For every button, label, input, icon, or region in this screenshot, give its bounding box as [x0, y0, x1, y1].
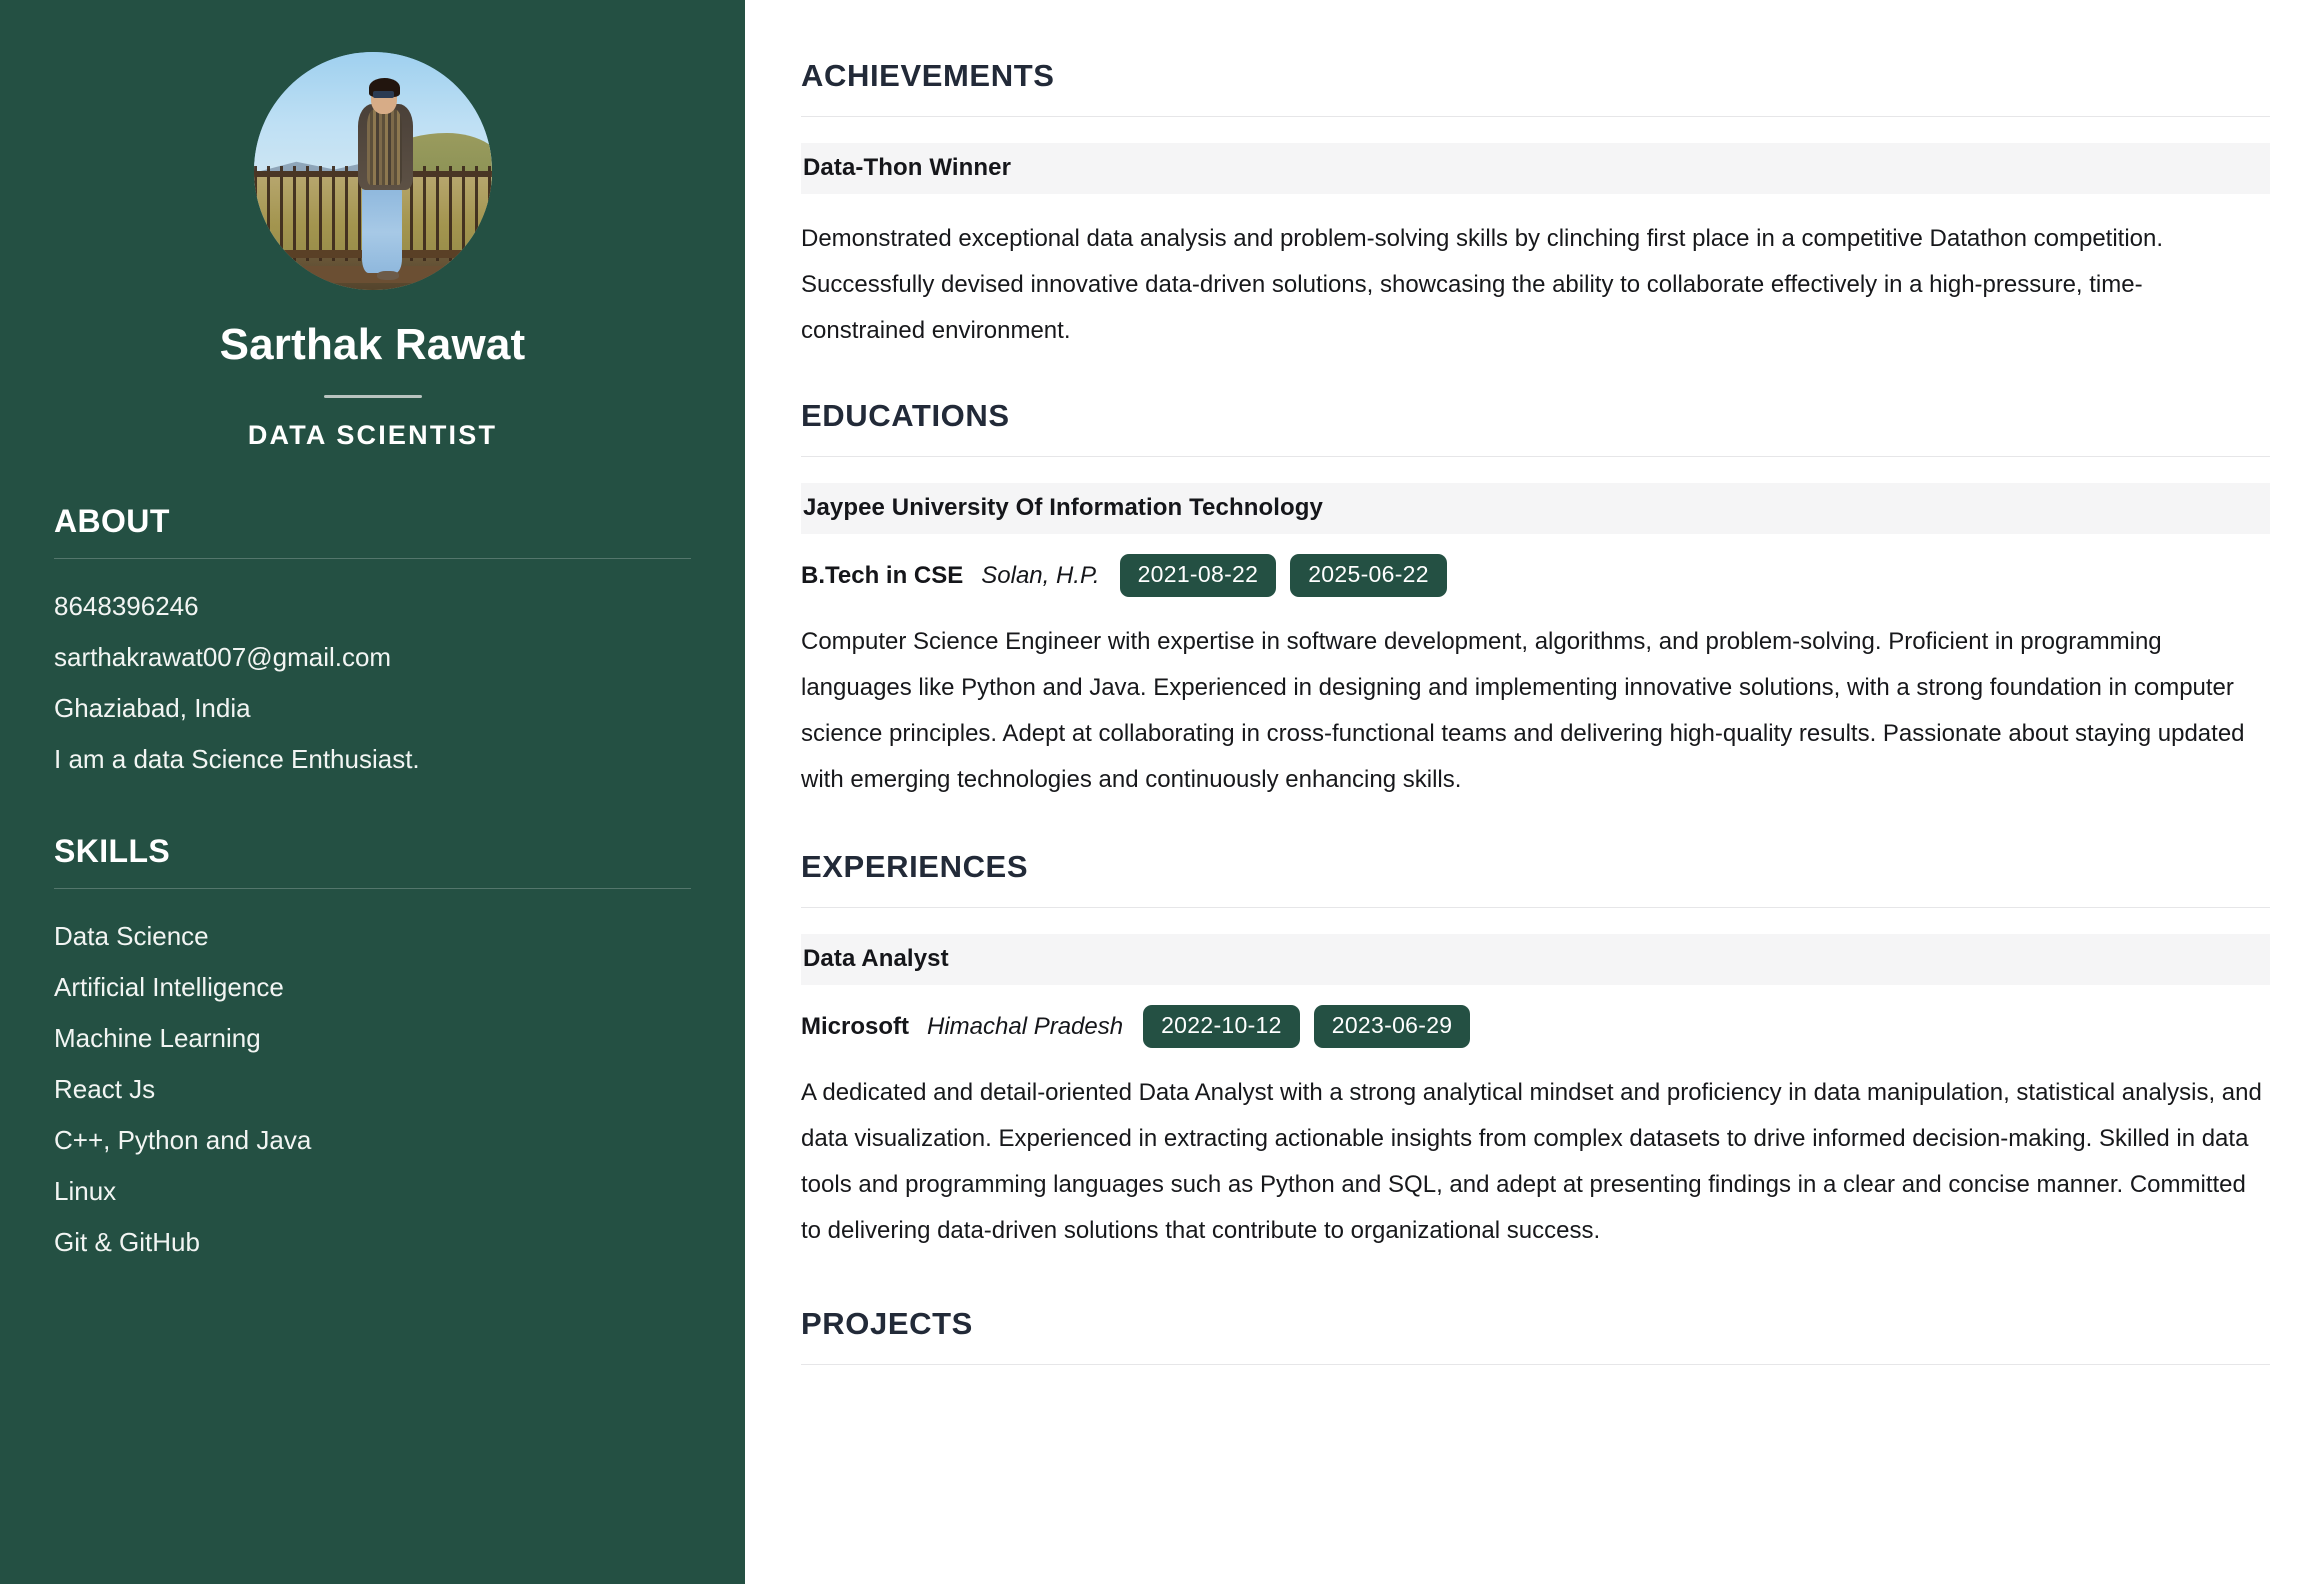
section-projects: PROJECTS: [801, 1306, 2270, 1365]
skill-item: C++, Python and Java: [54, 1115, 691, 1166]
photo-person-sunglasses: [373, 91, 394, 98]
section-achievements: ACHIEVEMENTS Data-Thon Winner Demonstrat…: [801, 58, 2270, 354]
experience-meta-row: Microsoft Himachal Pradesh 2022-10-12 20…: [801, 1005, 2270, 1048]
achievement-entry: Data-Thon Winner Demonstrated exceptiona…: [801, 143, 2270, 354]
education-start-date-badge: 2021-08-22: [1120, 554, 1277, 597]
experience-role: Data Analyst: [801, 934, 2270, 985]
main-content: ACHIEVEMENTS Data-Thon Winner Demonstrat…: [745, 0, 2320, 1584]
candidate-role: DATA SCIENTIST: [54, 420, 691, 451]
about-phone: 8648396246: [54, 581, 691, 632]
experiences-heading: EXPERIENCES: [801, 849, 2270, 908]
sidebar-section-about: ABOUT 8648396246 sarthakrawat007@gmail.c…: [54, 503, 691, 785]
photo-person-sweater: [367, 109, 403, 185]
resume-page: Sarthak Rawat DATA SCIENTIST ABOUT 86483…: [0, 0, 2320, 1584]
experience-description: A dedicated and detail-oriented Data Ana…: [801, 1070, 2270, 1254]
experience-location: Himachal Pradesh: [927, 1013, 1123, 1041]
education-institution: Jaypee University Of Information Technol…: [801, 483, 2270, 534]
photo-person-shoe: [377, 271, 398, 281]
about-address: Ghaziabad, India: [54, 683, 691, 734]
photo-person-legs: [362, 183, 402, 273]
experience-end-date-badge: 2023-06-29: [1314, 1005, 1471, 1048]
sidebar: Sarthak Rawat DATA SCIENTIST ABOUT 86483…: [0, 0, 745, 1584]
skills-list: Data Science Artificial Intelligence Mac…: [54, 911, 691, 1268]
achievement-title: Data-Thon Winner: [801, 143, 2270, 194]
education-meta-row: B.Tech in CSE Solan, H.P. 2021-08-22 202…: [801, 554, 2270, 597]
education-entry: Jaypee University Of Information Technol…: [801, 483, 2270, 803]
name-divider: [324, 395, 422, 398]
education-description: Computer Science Engineer with expertise…: [801, 619, 2270, 803]
projects-heading: PROJECTS: [801, 1306, 2270, 1365]
skill-item: React Js: [54, 1064, 691, 1115]
about-list: 8648396246 sarthakrawat007@gmail.com Gha…: [54, 581, 691, 785]
section-experiences: EXPERIENCES Data Analyst Microsoft Himac…: [801, 849, 2270, 1254]
achievement-description: Demonstrated exceptional data analysis a…: [801, 216, 2256, 354]
experience-start-date-badge: 2022-10-12: [1143, 1005, 1300, 1048]
skill-item: Git & GitHub: [54, 1217, 691, 1268]
avatar: [254, 52, 492, 290]
experience-company: Microsoft: [801, 1013, 909, 1041]
sidebar-section-skills: SKILLS Data Science Artificial Intellige…: [54, 833, 691, 1268]
skill-item: Data Science: [54, 911, 691, 962]
skill-item: Artificial Intelligence: [54, 962, 691, 1013]
educations-heading: EDUCATIONS: [801, 398, 2270, 457]
skill-item: Linux: [54, 1166, 691, 1217]
education-degree: B.Tech in CSE: [801, 562, 963, 590]
skill-item: Machine Learning: [54, 1013, 691, 1064]
candidate-name: Sarthak Rawat: [54, 320, 691, 370]
education-end-date-badge: 2025-06-22: [1290, 554, 1447, 597]
skills-heading: SKILLS: [54, 833, 691, 889]
avatar-container: [54, 52, 691, 290]
achievements-heading: ACHIEVEMENTS: [801, 58, 2270, 117]
experience-entry: Data Analyst Microsoft Himachal Pradesh …: [801, 934, 2270, 1254]
about-heading: ABOUT: [54, 503, 691, 559]
about-summary: I am a data Science Enthusiast.: [54, 734, 691, 785]
education-location: Solan, H.P.: [981, 562, 1099, 590]
about-email: sarthakrawat007@gmail.com: [54, 632, 691, 683]
section-educations: EDUCATIONS Jaypee University Of Informat…: [801, 398, 2270, 803]
